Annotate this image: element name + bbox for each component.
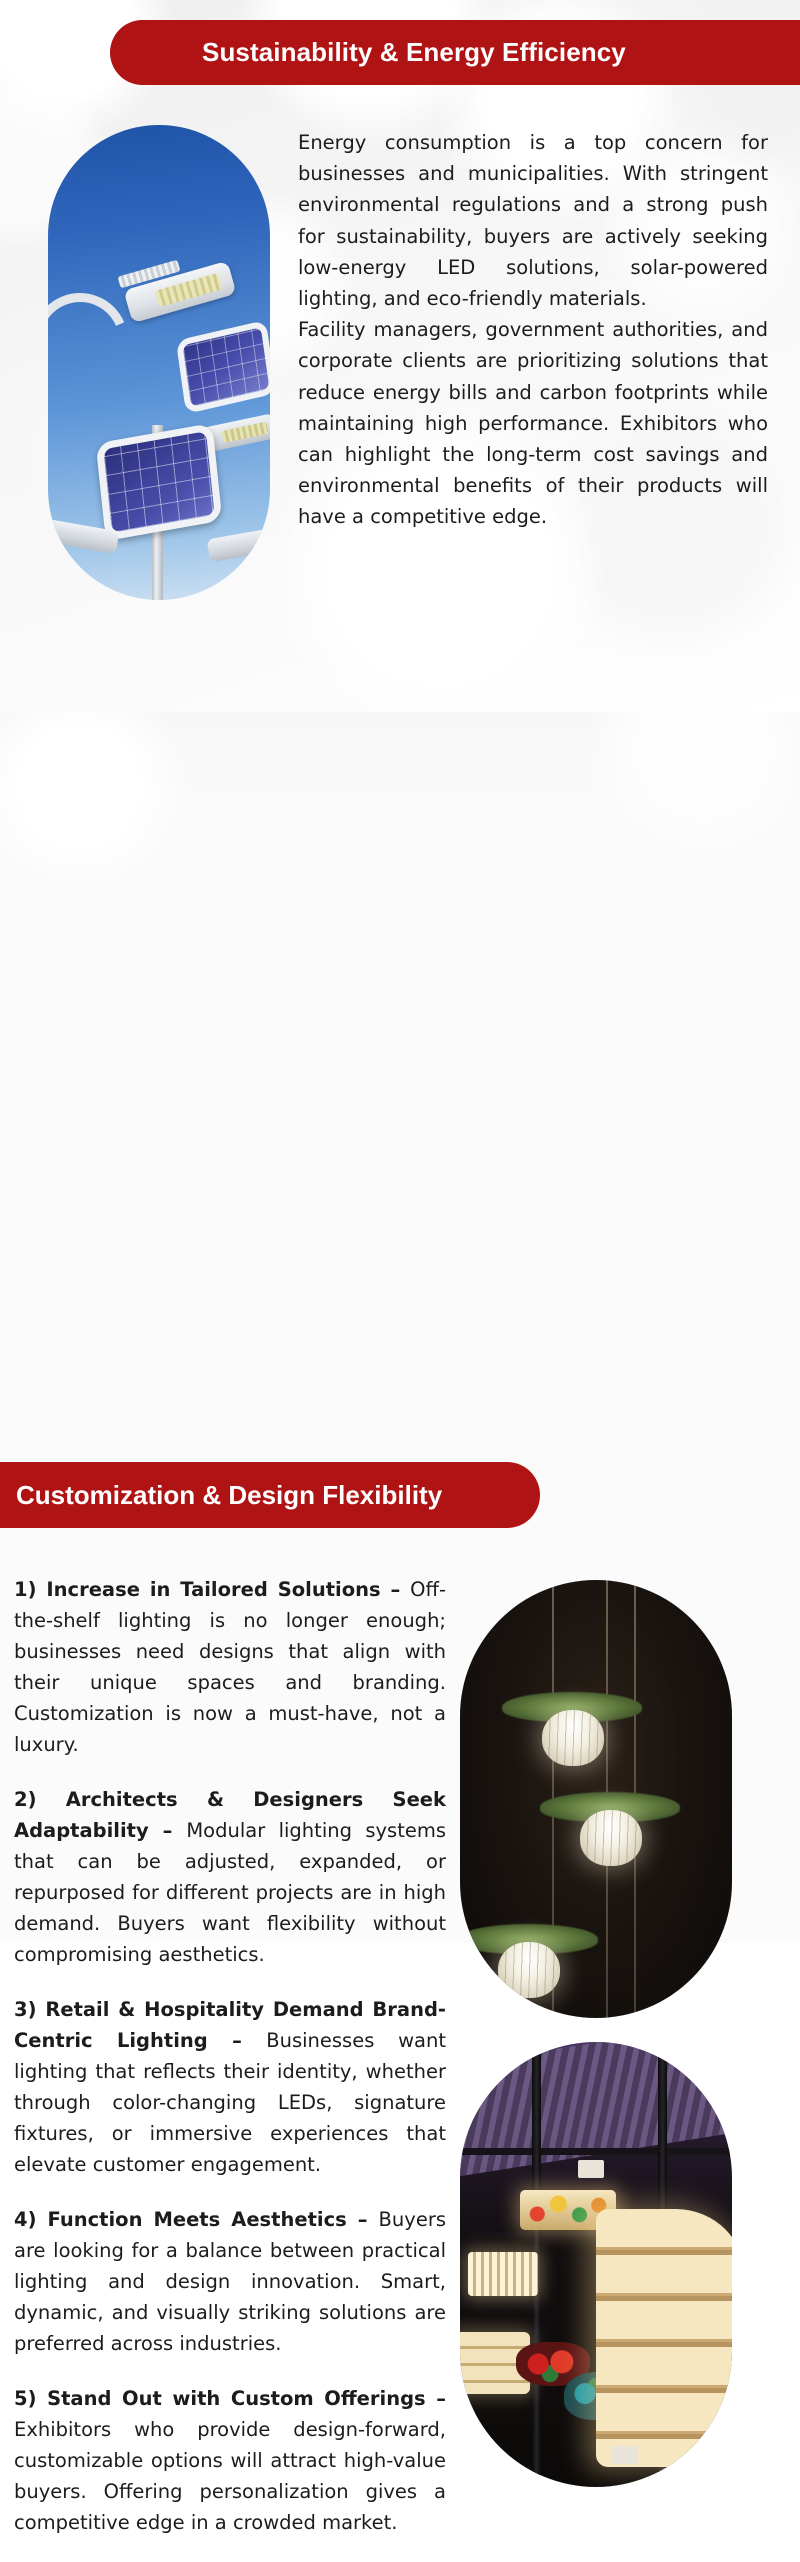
section2-list: 1) Increase in Tailored Solutions – Off-…: [0, 1574, 460, 2562]
ceiling-beam: [460, 2148, 732, 2155]
list-item-heading: 5) Stand Out with Custom Offerings –: [14, 2387, 446, 2410]
list-item-heading: 4) Function Meets Aesthetics –: [14, 2208, 379, 2231]
list-item: 1) Increase in Tailored Solutions – Off-…: [14, 1574, 446, 1760]
flower-pendant-lamp: [526, 1692, 618, 1760]
led-lamp-head-lower-right: [207, 527, 270, 563]
section1-paragraph-1: Energy consumption is a top concern for …: [298, 127, 768, 314]
showroom-roof: [460, 2042, 732, 2178]
section1-body: Energy consumption is a top concern for …: [0, 125, 800, 600]
section1-text-block: Energy consumption is a top concern for …: [270, 125, 800, 533]
flower-shade: [580, 1810, 642, 1866]
list-item-body: Exhibitors who provide design-forward, c…: [14, 2418, 446, 2534]
price-tag: [578, 2160, 604, 2178]
solar-street-light-photo: [48, 125, 270, 600]
price-tag: [612, 2446, 638, 2464]
solar-panel-secondary: [176, 320, 270, 414]
section2-title: Customization & Design Flexibility: [16, 1480, 442, 1511]
section2-body: 1) Increase in Tailored Solutions – Off-…: [0, 1574, 800, 2562]
section2-photo-column: [460, 1574, 800, 2487]
flower-pendant-lamp: [482, 1924, 574, 1992]
flower-pendant-lamp: [564, 1792, 656, 1860]
list-item-body: Off-the-shelf lighting is no longer enou…: [14, 1578, 446, 1756]
flower-shade: [542, 1710, 604, 1766]
glass-pendant-cluster: [468, 2252, 538, 2296]
flower-shade: [498, 1942, 560, 1998]
large-layered-drum-lamp: [596, 2209, 732, 2467]
list-item-heading: 1) Increase in Tailored Solutions –: [14, 1578, 410, 1601]
list-item: 3) Retail & Hospitality Demand Brand-Cen…: [14, 1994, 446, 2180]
section-sustainability: Sustainability & Energy Efficiency Energ…: [0, 0, 800, 712]
section1-title: Sustainability & Energy Efficiency: [202, 37, 626, 68]
list-item: 5) Stand Out with Custom Offerings – Exh…: [14, 2383, 446, 2538]
list-item: 2) Architects & Designers Seek Adaptabil…: [14, 1784, 446, 1970]
solar-panel-primary: [96, 423, 223, 541]
section1-paragraph-2: Facility managers, government authoritie…: [298, 314, 768, 532]
flower-pendant-lights-photo: [460, 1580, 732, 2018]
page-root: Sustainability & Energy Efficiency Energ…: [0, 0, 800, 712]
section1-banner: Sustainability & Energy Efficiency: [110, 20, 800, 85]
section2-banner: Customization & Design Flexibility: [0, 1462, 540, 1528]
lighting-showroom-lamps-photo: [460, 2042, 732, 2487]
list-item: 4) Function Meets Aesthetics – Buyers ar…: [14, 2204, 446, 2359]
